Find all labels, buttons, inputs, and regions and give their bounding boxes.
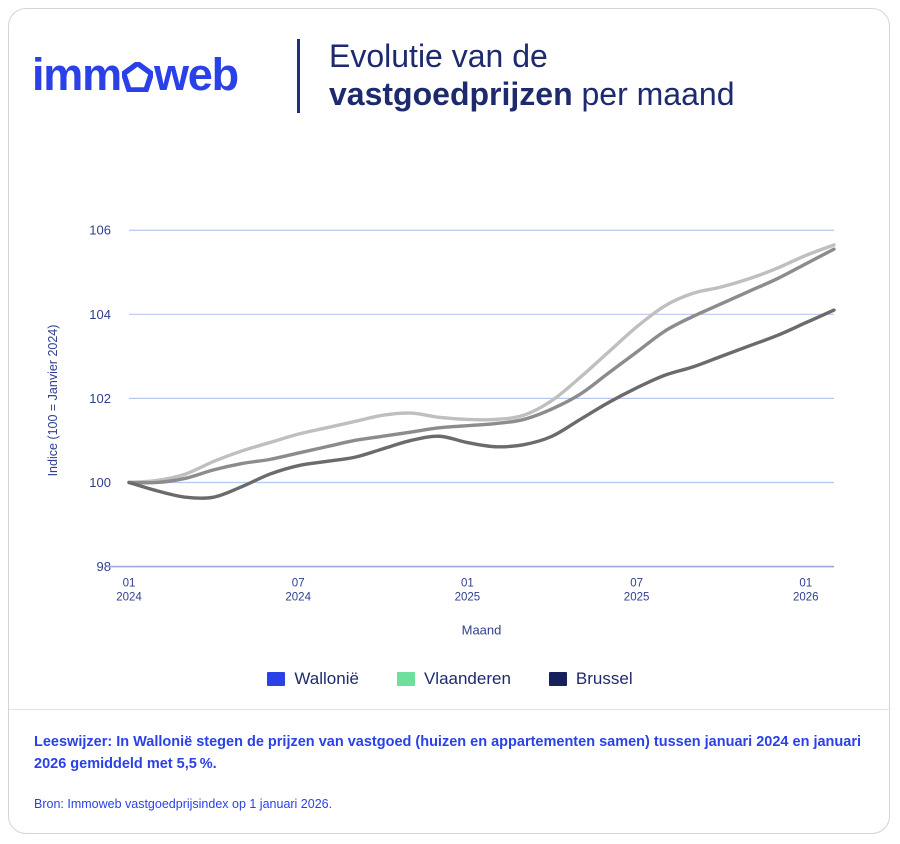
- legend-swatch: [397, 672, 415, 686]
- x-tick-month: 01: [123, 578, 136, 590]
- logo-text-after: web: [154, 52, 238, 97]
- legend-swatch: [549, 672, 567, 686]
- y-axis-title: Indice (100 = Janvier 2024): [46, 325, 60, 477]
- legend-item[interactable]: Brussel: [549, 669, 633, 689]
- x-tick-year: 2024: [116, 592, 142, 604]
- price-index-line-chart: 98100102104106 0120240720240120250720250…: [9, 139, 891, 679]
- page-title-rest: per maand: [573, 76, 735, 112]
- legend-item[interactable]: Wallonië: [267, 669, 359, 689]
- header-divider: [297, 39, 300, 113]
- x-tick-year: 2024: [285, 592, 311, 604]
- x-axis-tick-labels: 012024072024012025072025012026: [116, 578, 818, 604]
- page-title: Evolutie van de vastgoedprijzen per maan…: [329, 37, 734, 113]
- series-lines: [129, 245, 834, 498]
- legend-label: Vlaanderen: [424, 669, 511, 689]
- header: imm web Evolutie van de vastgoedprijzen …: [9, 9, 889, 139]
- y-tick-label: 104: [89, 307, 111, 322]
- y-tick-label: 100: [89, 475, 111, 490]
- legend-label: Brussel: [576, 669, 633, 689]
- chart-area: 98100102104106 0120240720240120250720250…: [9, 139, 891, 699]
- legend-label: Wallonië: [294, 669, 359, 689]
- series-line-walloni: [129, 310, 834, 498]
- leeswijzer-note: Leeswijzer: In Wallonië stegen de prijze…: [34, 731, 864, 775]
- series-line-vlaanderen: [129, 245, 834, 483]
- x-tick-month: 01: [799, 578, 812, 590]
- chart-legend: WalloniëVlaanderenBrussel: [9, 669, 891, 689]
- page-title-line1: Evolutie van de: [329, 37, 734, 75]
- x-tick-month: 01: [461, 578, 474, 590]
- footer-divider: [9, 709, 891, 710]
- page-title-line2: vastgoedprijzen per maand: [329, 75, 734, 113]
- x-tick-year: 2026: [793, 592, 819, 604]
- y-tick-label: 102: [89, 391, 111, 406]
- legend-swatch: [267, 672, 285, 686]
- x-tick-year: 2025: [624, 592, 650, 604]
- gridlines: [129, 230, 834, 566]
- page-title-emphasis: vastgoedprijzen: [329, 76, 573, 112]
- x-axis-title: Maand: [462, 623, 502, 638]
- logo-text-before: imm: [32, 52, 121, 97]
- legend-item[interactable]: Vlaanderen: [397, 669, 511, 689]
- x-tick-month: 07: [630, 578, 643, 590]
- y-axis-tick-labels: 98100102104106: [89, 223, 111, 574]
- x-tick-month: 07: [292, 578, 305, 590]
- report-card: imm web Evolutie van de vastgoedprijzen …: [8, 8, 890, 834]
- y-tick-label: 106: [89, 223, 111, 238]
- source-note: Bron: Immoweb vastgoedprijsindex op 1 ja…: [34, 795, 864, 813]
- x-tick-year: 2025: [455, 592, 481, 604]
- immoweb-logo[interactable]: imm web: [32, 47, 238, 101]
- house-pentagon-icon: [122, 62, 153, 92]
